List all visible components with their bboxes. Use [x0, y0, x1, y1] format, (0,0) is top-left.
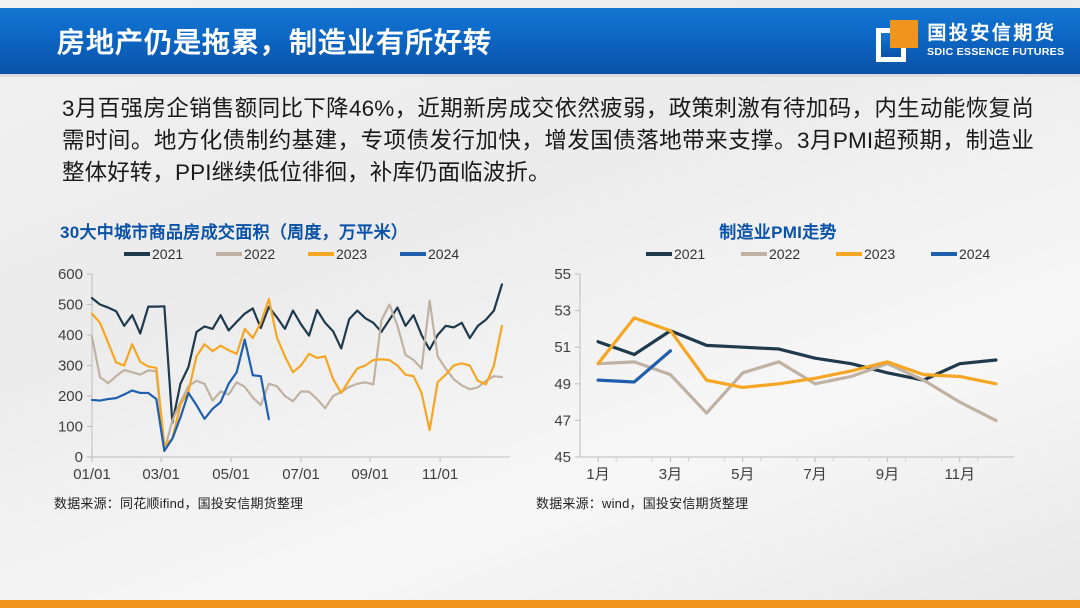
- svg-text:2023: 2023: [864, 246, 895, 262]
- bottom-accent-bar: [0, 600, 1080, 608]
- housing-sales-svg: 2021202220232024010020030040050060001/01…: [46, 244, 516, 489]
- svg-text:03/01: 03/01: [142, 466, 180, 483]
- svg-text:500: 500: [58, 297, 83, 314]
- company-logo: 国投安信期货 SDIC ESSENCE FUTURES: [876, 20, 1062, 62]
- svg-text:3月: 3月: [659, 466, 682, 483]
- source-note-pmi: 数据来源：wind，国投安信期货整理: [528, 493, 1028, 512]
- svg-text:55: 55: [554, 266, 571, 283]
- logo-mark-icon: [876, 20, 918, 62]
- title-bar: 房地产仍是拖累，制造业有所好转 国投安信期货 SDIC ESSENCE FUTU…: [0, 8, 1080, 74]
- svg-text:11/01: 11/01: [422, 466, 458, 483]
- svg-text:05/01: 05/01: [212, 466, 250, 483]
- svg-text:2023: 2023: [336, 246, 367, 262]
- svg-text:45: 45: [554, 449, 571, 466]
- svg-text:2022: 2022: [769, 246, 800, 262]
- svg-text:07/01: 07/01: [282, 466, 320, 483]
- svg-text:11月: 11月: [944, 466, 975, 483]
- logo-text-en: SDIC ESSENCE FUTURES: [927, 47, 1064, 58]
- svg-text:2021: 2021: [674, 246, 705, 262]
- svg-text:2021: 2021: [152, 246, 183, 262]
- svg-text:09/01: 09/01: [351, 466, 389, 483]
- svg-text:5月: 5月: [731, 466, 754, 483]
- svg-text:400: 400: [58, 327, 83, 344]
- svg-text:200: 200: [58, 388, 83, 405]
- svg-text:7月: 7月: [803, 466, 826, 483]
- summary-paragraph: 3月百强房企销售额同比下降46%，近期新房成交依然疲弱，政策刺激有待加码，内生动…: [62, 93, 1034, 189]
- chart-title-pmi: 制造业PMI走势: [528, 218, 1028, 244]
- svg-text:2024: 2024: [959, 246, 990, 262]
- svg-text:53: 53: [554, 303, 571, 320]
- svg-text:9月: 9月: [876, 466, 899, 483]
- svg-text:100: 100: [58, 419, 83, 436]
- svg-text:1月: 1月: [586, 466, 609, 483]
- svg-text:49: 49: [554, 376, 571, 393]
- header-underline: [0, 74, 1080, 77]
- logo-text-cn: 国投安信期货: [927, 24, 1062, 43]
- chart-plot-pmi: 20212022202320244547495153551月3月5月7月9月11…: [528, 244, 1028, 489]
- chart-pmi: 制造业PMI走势 20212022202320244547495153551月3…: [528, 218, 1028, 512]
- svg-text:01/01: 01/01: [73, 466, 111, 483]
- chart-title-housing: 30大中城市商品房成交面积（周度，万平米）: [46, 218, 516, 244]
- chart-housing-sales: 30大中城市商品房成交面积（周度，万平米） 202120222023202401…: [46, 218, 516, 512]
- svg-text:51: 51: [554, 339, 571, 356]
- svg-text:300: 300: [58, 358, 83, 375]
- svg-text:600: 600: [58, 266, 83, 283]
- chart-plot-housing: 2021202220232024010020030040050060001/01…: [46, 244, 516, 489]
- svg-text:47: 47: [554, 412, 571, 429]
- svg-text:2024: 2024: [428, 246, 459, 262]
- svg-text:2022: 2022: [244, 246, 275, 262]
- page-title: 房地产仍是拖累，制造业有所好转: [57, 21, 492, 61]
- svg-text:0: 0: [75, 449, 83, 466]
- pmi-svg: 20212022202320244547495153551月3月5月7月9月11…: [528, 244, 1028, 489]
- source-note-housing: 数据来源：同花顺ifind，国投安信期货整理: [46, 493, 516, 512]
